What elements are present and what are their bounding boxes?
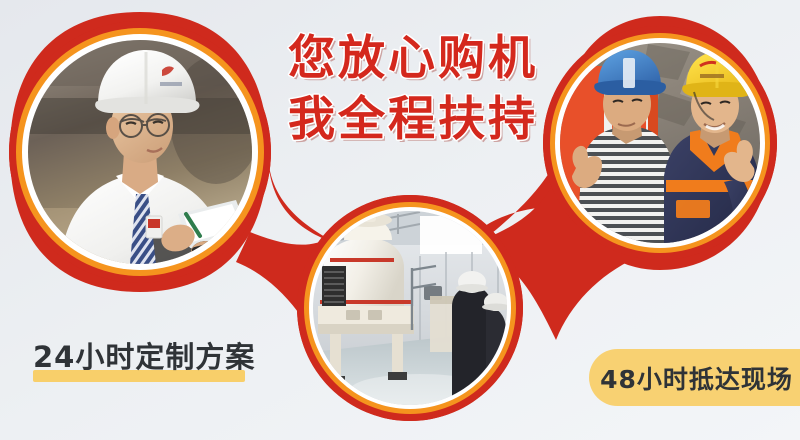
caption-right-pill: 48小时抵达现场 [589, 349, 800, 406]
caption-left: 24小时定制方案 [33, 338, 255, 376]
headline-line-1: 您放心购机 [278, 28, 548, 89]
photo-circle-customers [543, 26, 777, 260]
caption-right-label: 48小时抵达现场 [600, 360, 793, 396]
headline: 您放心购机 我全程扶持 [278, 28, 548, 150]
headline-line-2: 我全程扶持 [278, 89, 548, 150]
promo-banner: 您放心购机 我全程扶持 24小时定制方案 48小时抵达现场 [0, 0, 800, 440]
photo-circle-workshop [297, 195, 523, 421]
caption-left-label: 24小时定制方案 [33, 338, 255, 376]
photo-circle-engineer [9, 21, 271, 283]
